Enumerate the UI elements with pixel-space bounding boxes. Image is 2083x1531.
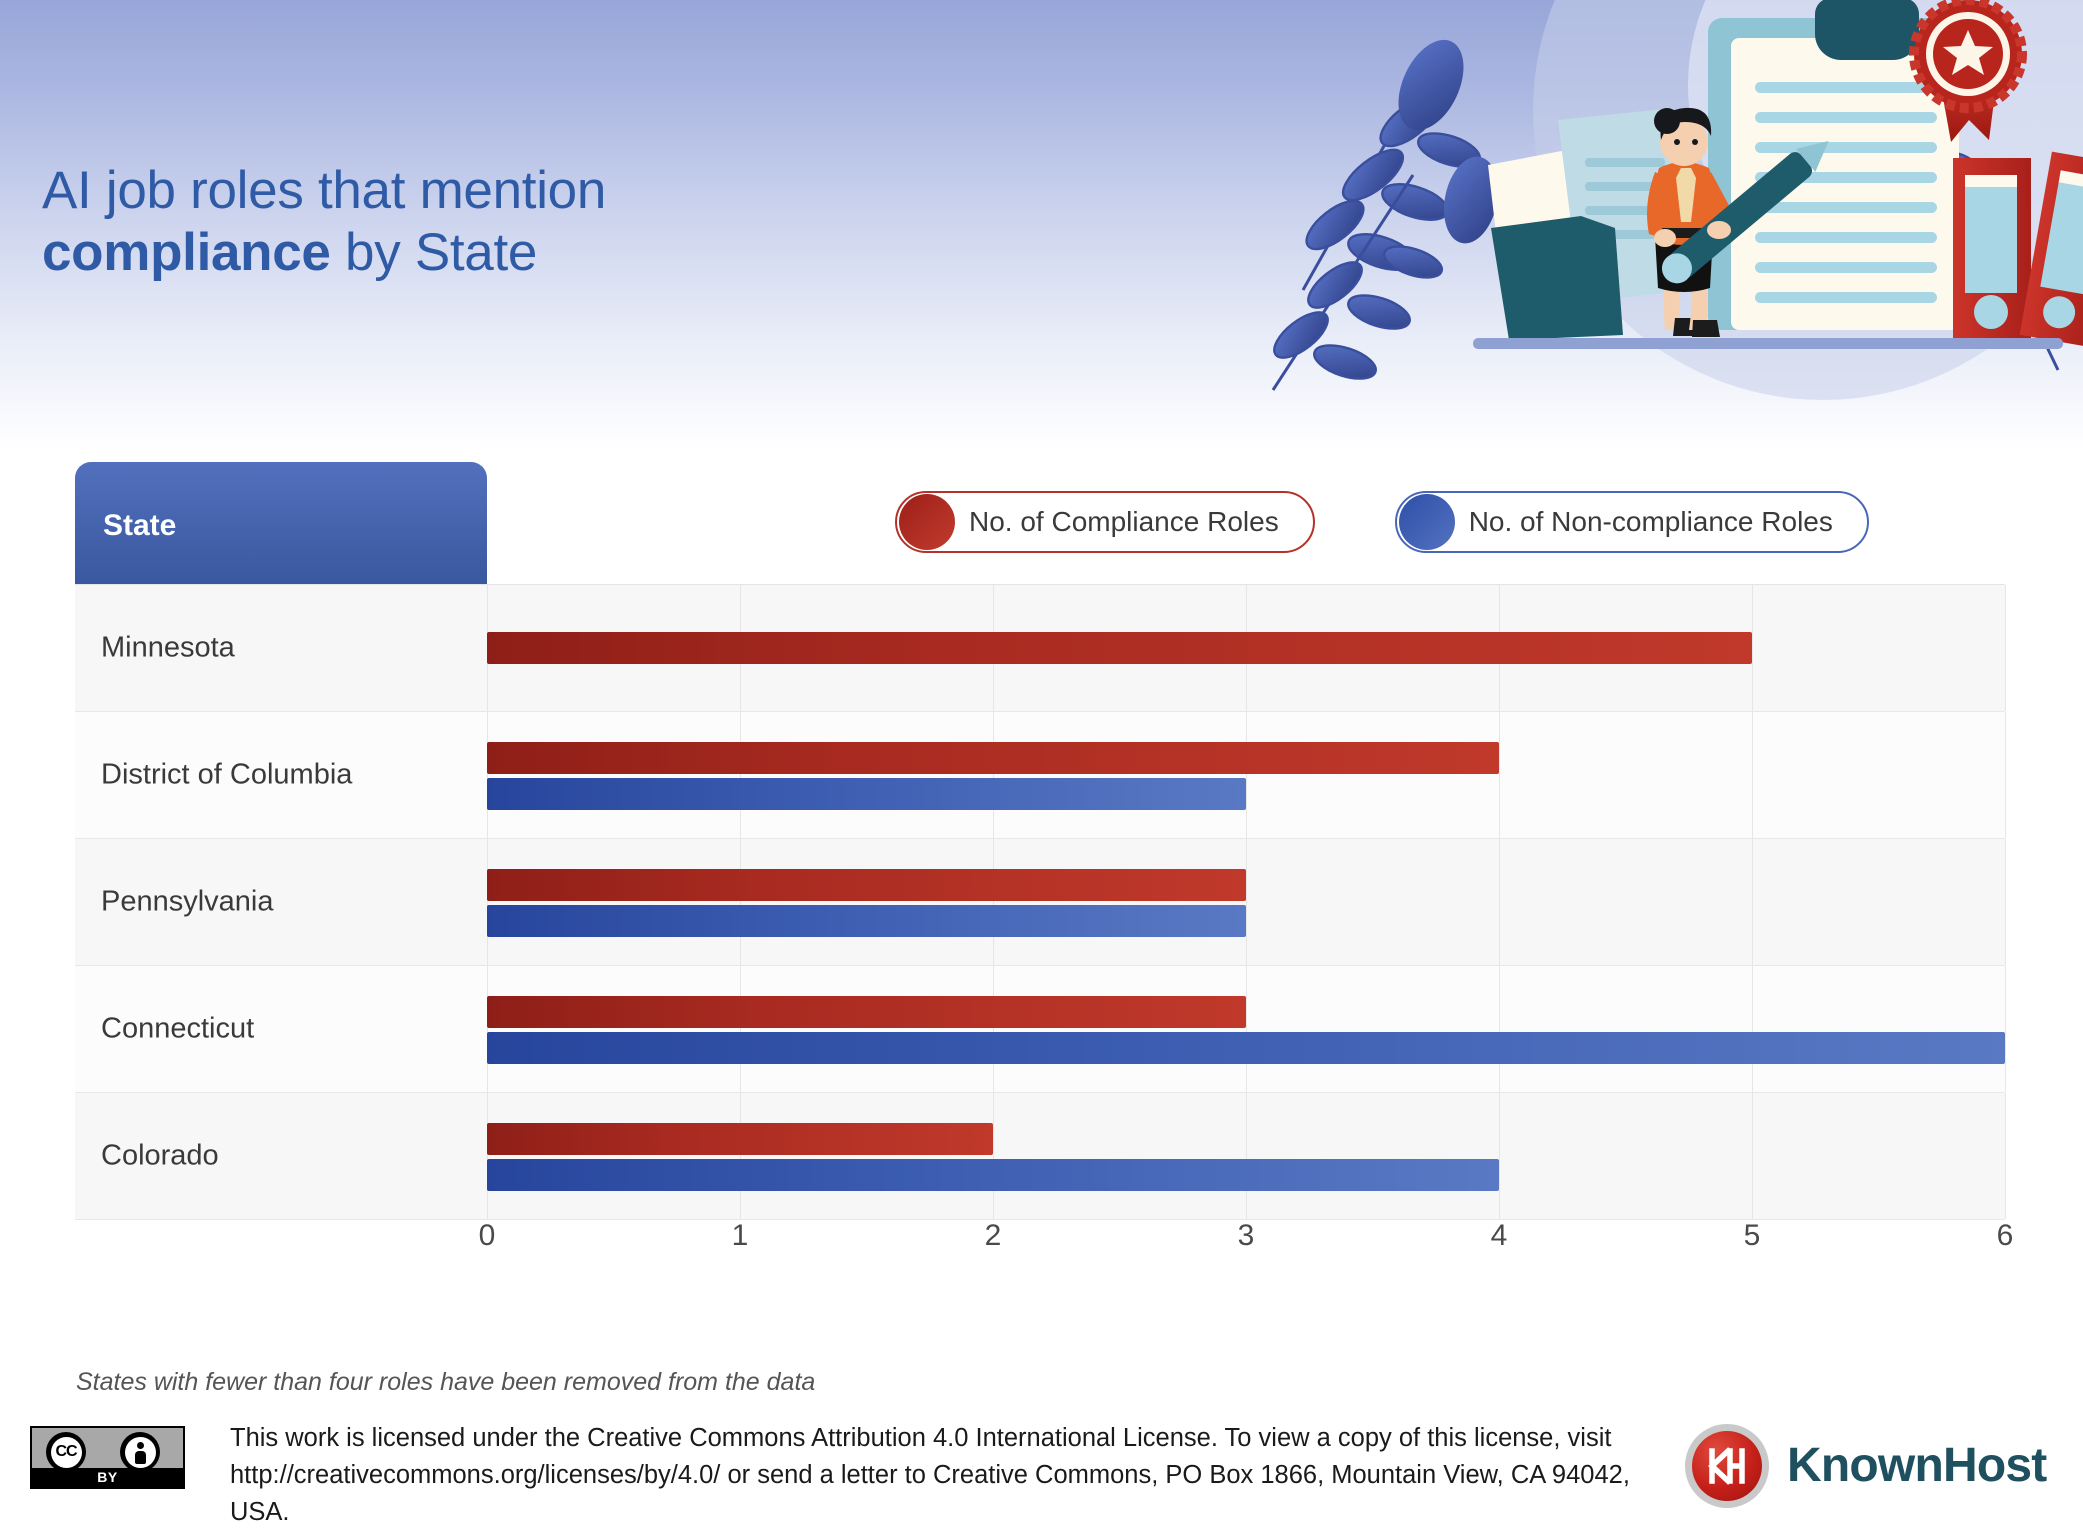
row-label-state: Colorado	[101, 1140, 219, 1173]
x-axis-tick-label: 4	[1491, 1219, 1508, 1253]
chart-row: District of Columbia	[75, 712, 2005, 839]
gridline	[740, 966, 741, 1092]
gridline	[740, 839, 741, 965]
row-plot-area	[487, 712, 2005, 838]
chart-legend: No. of Compliance Roles No. of Non-compl…	[895, 491, 1869, 553]
knownhost-mark-icon	[1685, 1424, 1769, 1508]
title-tail: by State	[331, 223, 537, 282]
bar-compliance[interactable]	[487, 996, 1246, 1028]
title-line-1: AI job roles that mention	[42, 161, 606, 220]
gridline	[1246, 712, 1247, 838]
chart-container: State No. of Compliance Roles No. of Non…	[75, 462, 2005, 1262]
gridline	[1752, 839, 1753, 965]
creative-commons-badge-icon: CC BY	[30, 1426, 185, 1489]
gridline	[1499, 966, 1500, 1092]
by-person-circle-icon	[120, 1432, 160, 1472]
chart-row: Colorado	[75, 1093, 2005, 1220]
person-icon	[125, 1437, 156, 1468]
gridline	[2005, 966, 2006, 1092]
state-column-header-label: State	[103, 509, 176, 543]
gridline	[1246, 1093, 1247, 1219]
license-text: This work is licensed under the Creative…	[230, 1420, 1650, 1531]
x-axis-tick-label: 3	[1238, 1219, 1255, 1253]
bar-non-compliance[interactable]	[487, 778, 1246, 810]
kh-monogram-icon	[1704, 1443, 1750, 1489]
row-label-state: Pennsylvania	[101, 886, 274, 919]
gridline	[487, 966, 488, 1092]
by-label: BY	[32, 1468, 183, 1487]
chart-row: Pennsylvania	[75, 839, 2005, 966]
chart-footnote: States with fewer than four roles have b…	[76, 1368, 815, 1397]
gridline	[993, 966, 994, 1092]
x-axis-tick-label: 0	[479, 1219, 496, 1253]
gridline	[1499, 839, 1500, 965]
cc-text: CC	[51, 1437, 82, 1468]
row-label-state: Minnesota	[101, 632, 235, 665]
x-axis-tick-label: 6	[1997, 1219, 2014, 1253]
legend-dot-blue-icon	[1399, 494, 1455, 550]
page-title: AI job roles that mention compliance by …	[42, 160, 942, 284]
gridline	[2005, 839, 2006, 965]
gridline	[993, 1093, 994, 1219]
gridline	[1752, 966, 1753, 1092]
gridline	[993, 839, 994, 965]
gridline	[2005, 585, 2006, 711]
gridline	[1752, 585, 1753, 711]
x-axis-tick-label: 1	[732, 1219, 749, 1253]
bar-compliance[interactable]	[487, 869, 1246, 901]
bar-compliance[interactable]	[487, 742, 1499, 774]
legend-label-compliance: No. of Compliance Roles	[969, 506, 1279, 538]
row-plot-area	[487, 1093, 2005, 1219]
gridline	[1499, 1093, 1500, 1219]
gridline	[487, 712, 488, 838]
header-band: AI job roles that mention compliance by …	[0, 0, 2083, 452]
chart-row: Minnesota	[75, 585, 2005, 712]
compliance-illustration	[1263, 0, 2083, 450]
gridline	[2005, 712, 2006, 838]
gridline	[487, 839, 488, 965]
gridline	[1752, 712, 1753, 838]
gridline	[2005, 1093, 2006, 1219]
gridline	[1246, 839, 1247, 965]
bar-compliance[interactable]	[487, 1123, 993, 1155]
license-row: CC BY This work is licensed under the Cr…	[30, 1420, 2060, 1515]
x-axis-tick-label: 5	[1744, 1219, 1761, 1253]
row-plot-area	[487, 585, 2005, 711]
x-axis-tick-label: 2	[985, 1219, 1002, 1253]
legend-dot-red-icon	[899, 494, 955, 550]
bar-non-compliance[interactable]	[487, 1159, 1499, 1191]
gridline	[740, 1093, 741, 1219]
chart-row: Connecticut	[75, 966, 2005, 1093]
row-label-state: Connecticut	[101, 1013, 254, 1046]
bar-non-compliance[interactable]	[487, 905, 1246, 937]
knownhost-logo: KnownHost	[1685, 1420, 2075, 1515]
chart-rows: MinnesotaDistrict of ColumbiaPennsylvani…	[75, 584, 2005, 1219]
gridline	[740, 712, 741, 838]
cc-circle-icon: CC	[46, 1432, 86, 1472]
legend-label-non-compliance: No. of Non-compliance Roles	[1469, 506, 1833, 538]
gridline	[1246, 966, 1247, 1092]
x-axis: 0123456	[487, 1219, 2005, 1274]
legend-item-non-compliance[interactable]: No. of Non-compliance Roles	[1395, 491, 1869, 553]
legend-item-compliance[interactable]: No. of Compliance Roles	[895, 491, 1315, 553]
row-label-state: District of Columbia	[101, 759, 352, 792]
bar-compliance[interactable]	[487, 632, 1752, 664]
row-plot-area	[487, 839, 2005, 965]
gridline	[993, 712, 994, 838]
knownhost-monogram-circle	[1692, 1431, 1762, 1501]
row-plot-area	[487, 966, 2005, 1092]
gridline	[487, 1093, 488, 1219]
gridline	[1752, 1093, 1753, 1219]
gridline	[1499, 712, 1500, 838]
bar-non-compliance[interactable]	[487, 1032, 2005, 1064]
knownhost-wordmark: KnownHost	[1787, 1438, 2046, 1493]
title-emphasis: compliance	[42, 223, 331, 282]
state-column-header-tab: State	[75, 462, 487, 584]
